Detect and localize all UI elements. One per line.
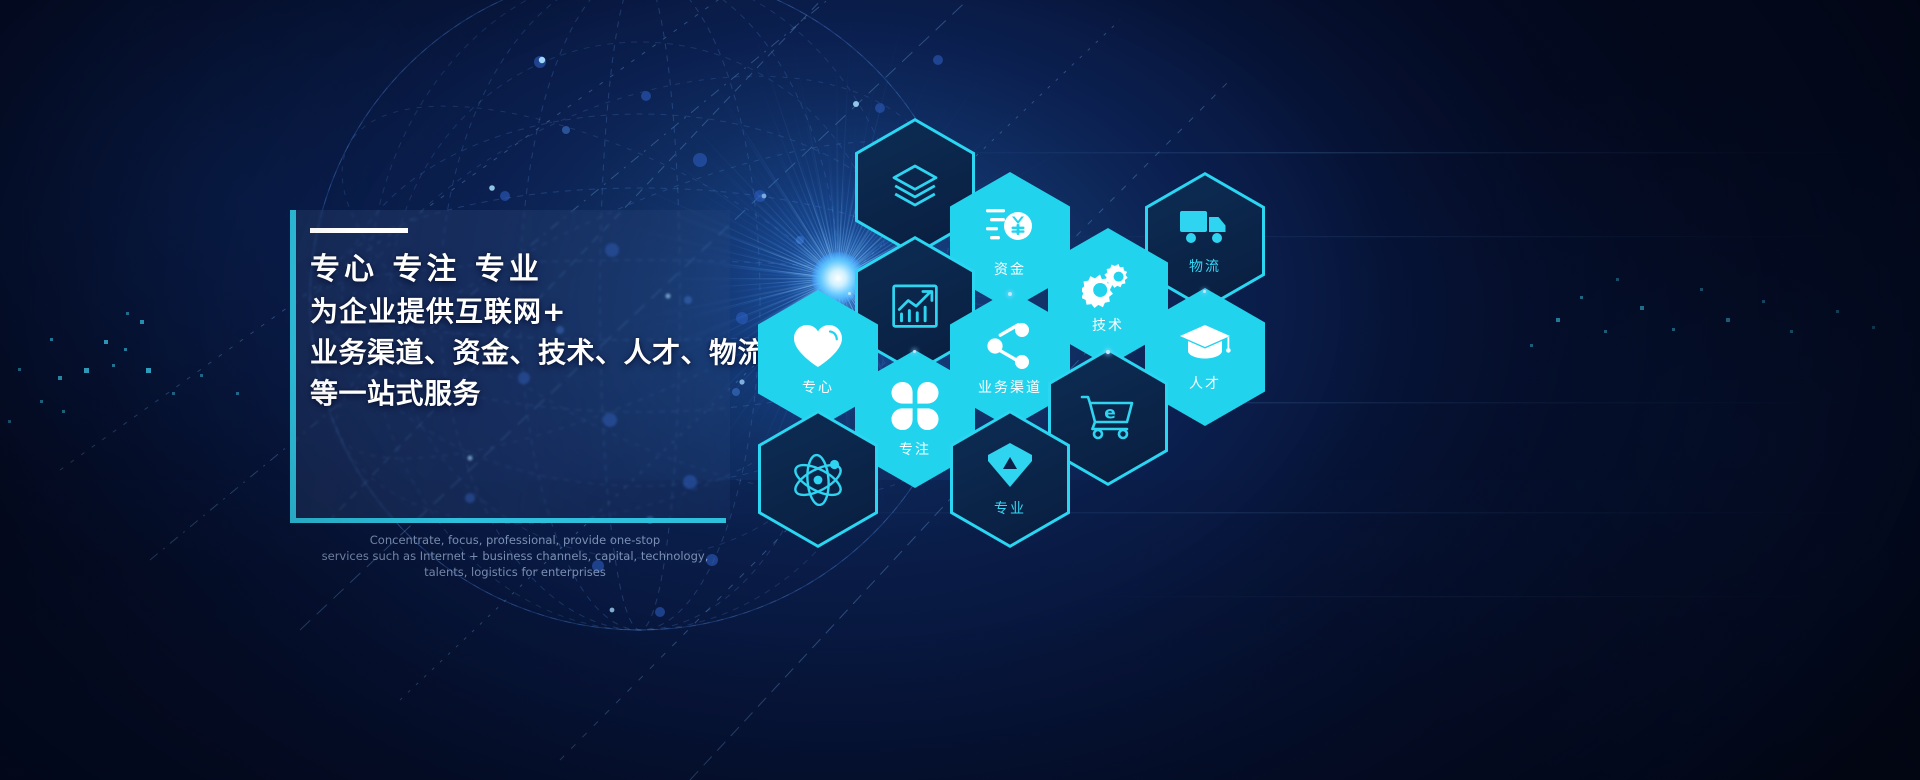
vignette-overlay [0, 0, 1920, 780]
banner-stage: 专心 专注 专业 为企业提供互联网+ 业务渠道、资金、技术、人才、物流 等一站式… [0, 0, 1920, 780]
